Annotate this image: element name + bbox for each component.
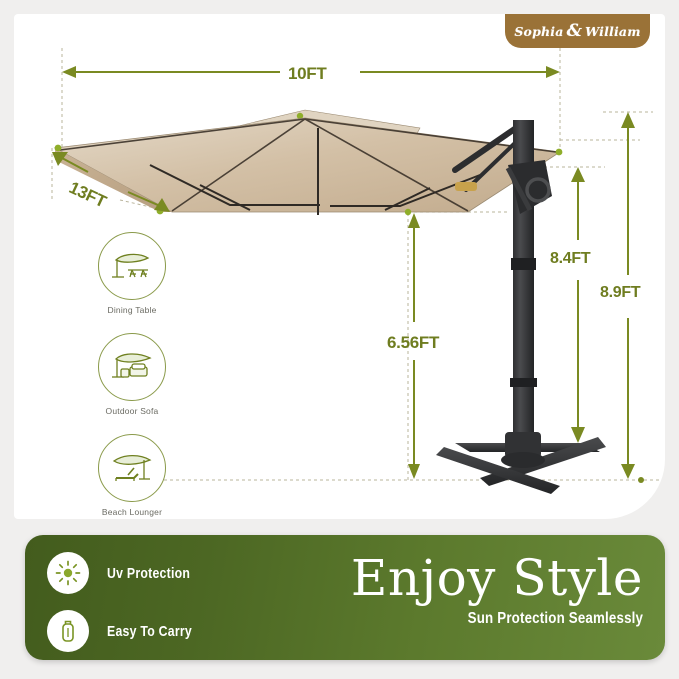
bag-icon bbox=[47, 610, 89, 652]
dimension-label-canopy-height: 6.56FT bbox=[387, 333, 439, 353]
dimension-label-width: 10FT bbox=[288, 64, 326, 84]
use-case-beach-lounger: Beach Lounger bbox=[82, 434, 182, 517]
dining-table-umbrella-icon bbox=[98, 232, 166, 300]
brand-ampersand: & bbox=[567, 21, 583, 41]
use-case-list: Dining Table Outdoor Sofa bbox=[82, 232, 182, 535]
feature-label: Easy To Carry bbox=[107, 623, 192, 640]
sun-icon bbox=[47, 552, 89, 594]
dimension-label-pole-height: 8.4FT bbox=[550, 250, 590, 268]
use-case-label: Beach Lounger bbox=[82, 507, 182, 517]
dimension-label-total-height: 8.9FT bbox=[600, 284, 640, 302]
use-case-dining-table: Dining Table bbox=[82, 232, 182, 315]
infographic-page: Sophia&William bbox=[0, 0, 679, 679]
brand-logo-text: Sophia&William bbox=[514, 21, 640, 41]
banner-headline-block: Enjoy Style Sun Protection Seamlessly bbox=[351, 553, 643, 628]
brand-name-last: William bbox=[585, 24, 641, 39]
banner-tagline: Sun Protection Seamlessly bbox=[392, 610, 643, 628]
use-case-outdoor-sofa: Outdoor Sofa bbox=[82, 333, 182, 416]
feature-banner: Uv Protection Easy To Carry Enjoy Style … bbox=[25, 535, 665, 660]
banner-headline: Enjoy Style bbox=[351, 553, 643, 603]
brand-logo: Sophia&William bbox=[505, 14, 650, 48]
beach-lounger-umbrella-icon bbox=[98, 434, 166, 502]
feature-uv-protection: Uv Protection bbox=[47, 552, 337, 594]
use-case-label: Outdoor Sofa bbox=[82, 406, 182, 416]
use-case-label: Dining Table bbox=[82, 305, 182, 315]
feature-easy-to-carry: Easy To Carry bbox=[47, 610, 337, 652]
feature-label: Uv Protection bbox=[107, 565, 190, 582]
outdoor-sofa-umbrella-icon bbox=[98, 333, 166, 401]
feature-list: Uv Protection Easy To Carry bbox=[47, 552, 337, 660]
brand-name-first: Sophia bbox=[514, 24, 563, 39]
